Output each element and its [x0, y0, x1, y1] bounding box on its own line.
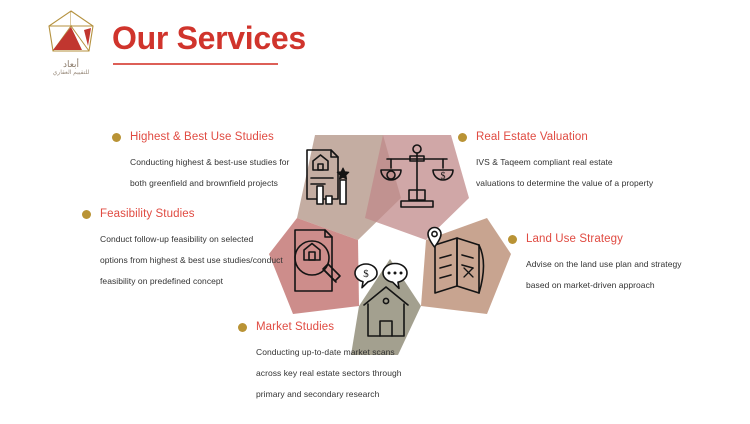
- service-heading: Real Estate Valuation: [458, 131, 653, 143]
- title-underline-rule: [113, 63, 278, 65]
- bullet-dot-icon: [458, 133, 467, 142]
- service-heading: Feasibility Studies: [82, 208, 283, 220]
- service-description-line: valuations to determine the value of a p…: [476, 173, 653, 194]
- logo-arabic-name: أبعاد: [40, 59, 102, 69]
- slide-header: أبعاد للتقييم العقاري Our Services: [0, 0, 750, 95]
- service-title: Land Use Strategy: [526, 233, 623, 245]
- service-block-feasibility-studies: Feasibility Studies Conduct follow-up fe…: [82, 208, 283, 292]
- service-heading: Market Studies: [238, 321, 402, 333]
- petal-land-use-strategy[interactable]: [421, 218, 511, 314]
- bullet-dot-icon: [508, 235, 517, 244]
- service-description-line: Conducting up-to-date market scans: [256, 342, 402, 363]
- service-heading: Land Use Strategy: [508, 233, 682, 245]
- service-description-line: options from highest & best use studies/…: [100, 250, 283, 271]
- service-description: Conducting highest & best-use studies fo…: [130, 152, 289, 194]
- service-title: Real Estate Valuation: [476, 131, 588, 143]
- service-description-line: Conduct follow-up feasibility on selecte…: [100, 229, 283, 250]
- service-description: Advise on the land use plan and strategy…: [526, 254, 682, 296]
- service-block-market-studies: Market Studies Conducting up-to-date mar…: [238, 321, 402, 405]
- gem-diamond-logo-icon: [40, 8, 102, 58]
- service-description-line: Advise on the land use plan and strategy: [526, 254, 682, 275]
- svg-text:$: $: [441, 171, 446, 182]
- petal-real-estate-valuation[interactable]: $: [365, 135, 469, 240]
- service-description-line: Conducting highest & best-use studies fo…: [130, 152, 289, 173]
- page-title: Our Services: [112, 20, 306, 57]
- bullet-dot-icon: [238, 323, 247, 332]
- service-description-line: feasibility on predefined concept: [100, 271, 283, 292]
- service-heading: Highest & Best Use Studies: [112, 131, 289, 143]
- service-title: Market Studies: [256, 321, 334, 333]
- service-description: Conduct follow-up feasibility on selecte…: [100, 229, 283, 292]
- bullet-dot-icon: [82, 210, 91, 219]
- service-description-line: IVS & Taqeem compliant real estate: [476, 152, 653, 173]
- company-logo: أبعاد للتقييم العقاري: [40, 8, 102, 77]
- logo-arabic-tagline: للتقييم العقاري: [40, 69, 102, 77]
- service-block-real-estate-valuation: Real Estate Valuation IVS & Taqeem compl…: [458, 131, 653, 194]
- service-description: IVS & Taqeem compliant real estate valua…: [476, 152, 653, 194]
- service-description: Conducting up-to-date market scans acros…: [256, 342, 402, 405]
- service-description-line: both greenfield and brownfield projects: [130, 173, 289, 194]
- service-block-land-use-strategy: Land Use Strategy Advise on the land use…: [508, 233, 682, 296]
- bullet-dot-icon: [112, 133, 121, 142]
- service-block-highest-best-use: Highest & Best Use Studies Conducting hi…: [112, 131, 289, 194]
- service-description-line: based on market-driven approach: [526, 275, 682, 296]
- service-title: Highest & Best Use Studies: [130, 131, 274, 143]
- service-description-line: primary and secondary research: [256, 384, 402, 405]
- service-description-line: across key real estate sectors through: [256, 363, 402, 384]
- svg-text:$: $: [363, 268, 369, 280]
- service-title: Feasibility Studies: [100, 208, 195, 220]
